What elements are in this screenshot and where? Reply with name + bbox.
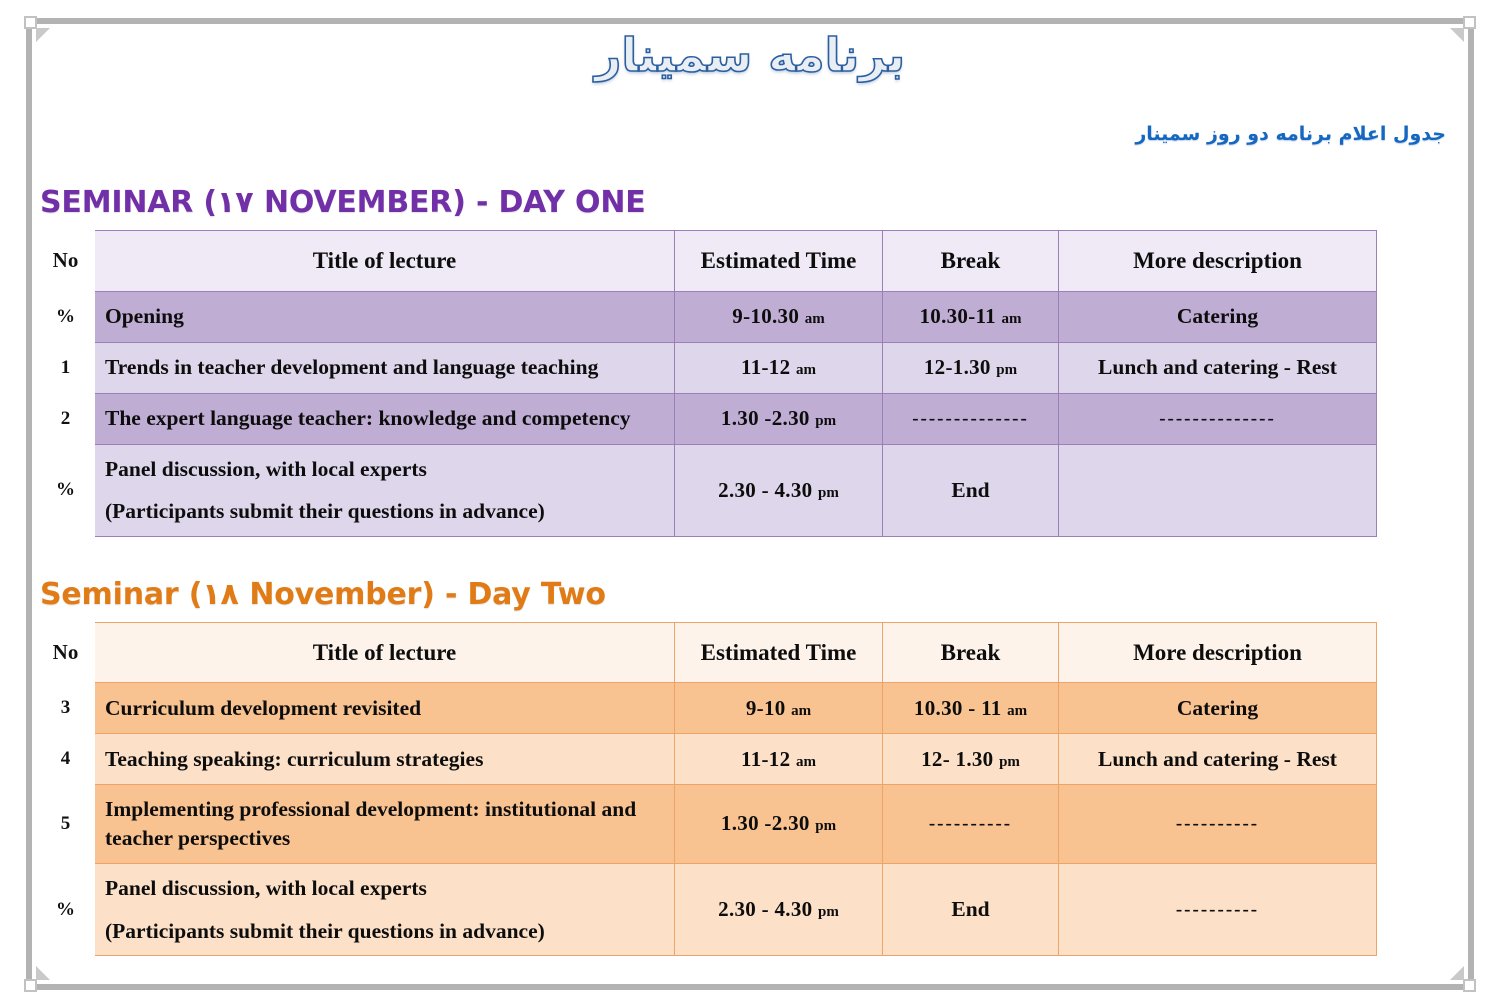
lecture-title-line2: (Participants submit their questions in …	[105, 917, 674, 946]
row-number: 3	[37, 683, 95, 734]
frame-bottom-line	[36, 984, 1464, 990]
frame-right-line	[1468, 28, 1474, 980]
break-time: End	[883, 863, 1059, 956]
lecture-title: Trends in teacher development and langua…	[95, 342, 675, 393]
row-number: %	[37, 444, 95, 537]
break-value: 10.30-11	[919, 304, 995, 328]
time-value: 9-10	[746, 696, 786, 720]
lecture-title: Opening	[95, 291, 675, 342]
break-value: 12- 1.30	[921, 747, 993, 771]
time-ampm: pm	[818, 904, 839, 920]
table-row: 1 Trends in teacher development and lang…	[37, 342, 1377, 393]
lecture-title-line1: Panel discussion, with local experts	[105, 876, 427, 900]
break-time: ----------	[883, 785, 1059, 864]
column-header-break: Break	[883, 230, 1059, 291]
day-two-heading: Seminar (۱۸ November) - Day Two	[40, 577, 1464, 612]
estimated-time: 1.30 -2.30 pm	[675, 785, 883, 864]
table-header-row: No Title of lecture Estimated Time Break…	[37, 623, 1377, 683]
frame-corner-triangle-bottom-left	[36, 966, 50, 980]
table-header-row: No Title of lecture Estimated Time Break…	[37, 230, 1377, 291]
more-description: ----------	[1059, 863, 1377, 956]
lecture-title: Panel discussion, with local experts(Par…	[95, 444, 675, 537]
estimated-time: 9-10.30 am	[675, 291, 883, 342]
time-ampm: am	[796, 362, 816, 378]
day-one-heading: SEMINAR (۱۷ NOVEMBER) - DAY ONE	[40, 185, 1464, 220]
frame-left-line	[26, 28, 32, 980]
more-description: Lunch and catering - Rest	[1059, 342, 1377, 393]
more-description: Catering	[1059, 291, 1377, 342]
break-ampm: am	[1002, 311, 1022, 327]
day-one-schedule-table: No Title of lecture Estimated Time Break…	[36, 230, 1377, 538]
lecture-title: The expert language teacher: knowledge a…	[95, 393, 675, 444]
break-ampm: pm	[996, 362, 1017, 378]
break-time: --------------	[883, 393, 1059, 444]
column-header-title: Title of lecture	[95, 230, 675, 291]
table-row: 2 The expert language teacher: knowledge…	[37, 393, 1377, 444]
estimated-time: 1.30 -2.30 pm	[675, 393, 883, 444]
time-ampm: am	[796, 754, 816, 770]
row-number: %	[37, 291, 95, 342]
break-time: 12-1.30 pm	[883, 342, 1059, 393]
column-header-time: Estimated Time	[675, 623, 883, 683]
frame-corner-triangle-bottom-right	[1450, 966, 1464, 980]
estimated-time: 9-10 am	[675, 683, 883, 734]
break-value: 12-1.30	[924, 355, 991, 379]
document-content: برنامه سمینار جدول اعلام برنامه دو روز س…	[36, 24, 1464, 956]
time-ampm: pm	[815, 818, 836, 834]
time-ampm: am	[791, 703, 811, 719]
column-header-break: Break	[883, 623, 1059, 683]
lecture-title: Panel discussion, with local experts(Par…	[95, 863, 675, 956]
more-description: Lunch and catering - Rest	[1059, 734, 1377, 785]
lecture-title-line1: Panel discussion, with local experts	[105, 457, 427, 481]
column-header-description: More description	[1059, 623, 1377, 683]
break-time: End	[883, 444, 1059, 537]
more-description	[1059, 444, 1377, 537]
break-ampm: pm	[999, 754, 1020, 770]
table-row: 5 Implementing professional development:…	[37, 785, 1377, 864]
more-description: Catering	[1059, 683, 1377, 734]
time-ampm: am	[805, 311, 825, 327]
time-value: 11-12	[741, 747, 790, 771]
time-value: 2.30 - 4.30	[718, 897, 812, 921]
table-row: % Panel discussion, with local experts(P…	[37, 444, 1377, 537]
time-value: 1.30 -2.30	[721, 811, 810, 835]
column-header-time: Estimated Time	[675, 230, 883, 291]
lecture-title: Teaching speaking: curriculum strategies	[95, 734, 675, 785]
table-row: % Opening 9-10.30 am 10.30-11 am Caterin…	[37, 291, 1377, 342]
day-two-schedule-table: No Title of lecture Estimated Time Break…	[36, 622, 1377, 956]
frame-corner-square-top-right	[1463, 16, 1476, 29]
document-title: برنامه سمینار	[36, 30, 1464, 81]
row-number: %	[37, 863, 95, 956]
table-row: 3 Curriculum development revisited 9-10 …	[37, 683, 1377, 734]
break-time: 12- 1.30 pm	[883, 734, 1059, 785]
table-row: 4 Teaching speaking: curriculum strategi…	[37, 734, 1377, 785]
time-value: 11-12	[741, 355, 790, 379]
break-time: 10.30 - 11 am	[883, 683, 1059, 734]
break-time: 10.30-11 am	[883, 291, 1059, 342]
frame-corner-square-bottom-right	[1463, 979, 1476, 992]
estimated-time: 2.30 - 4.30 pm	[675, 863, 883, 956]
estimated-time: 11-12 am	[675, 734, 883, 785]
time-value: 9-10.30	[732, 304, 799, 328]
lecture-title: Implementing professional development: i…	[95, 785, 675, 864]
more-description: ----------	[1059, 785, 1377, 864]
column-header-description: More description	[1059, 230, 1377, 291]
row-number: 5	[37, 785, 95, 864]
lecture-title-line2: (Participants submit their questions in …	[105, 497, 674, 526]
time-ampm: pm	[818, 485, 839, 501]
row-number: 2	[37, 393, 95, 444]
row-number: 1	[37, 342, 95, 393]
time-value: 2.30 - 4.30	[718, 478, 812, 502]
column-header-no: No	[37, 623, 95, 683]
break-value: 10.30 - 11	[914, 696, 1002, 720]
estimated-time: 11-12 am	[675, 342, 883, 393]
column-header-no: No	[37, 230, 95, 291]
document-subtitle: جدول اعلام برنامه دو روز سمینار	[36, 123, 1446, 145]
row-number: 4	[37, 734, 95, 785]
more-description: --------------	[1059, 393, 1377, 444]
break-ampm: am	[1007, 703, 1027, 719]
column-header-title: Title of lecture	[95, 623, 675, 683]
frame-corner-square-bottom-left	[24, 979, 37, 992]
estimated-time: 2.30 - 4.30 pm	[675, 444, 883, 537]
time-value: 1.30 -2.30	[721, 406, 810, 430]
time-ampm: pm	[815, 413, 836, 429]
lecture-title: Curriculum development revisited	[95, 683, 675, 734]
table-row: % Panel discussion, with local experts(P…	[37, 863, 1377, 956]
